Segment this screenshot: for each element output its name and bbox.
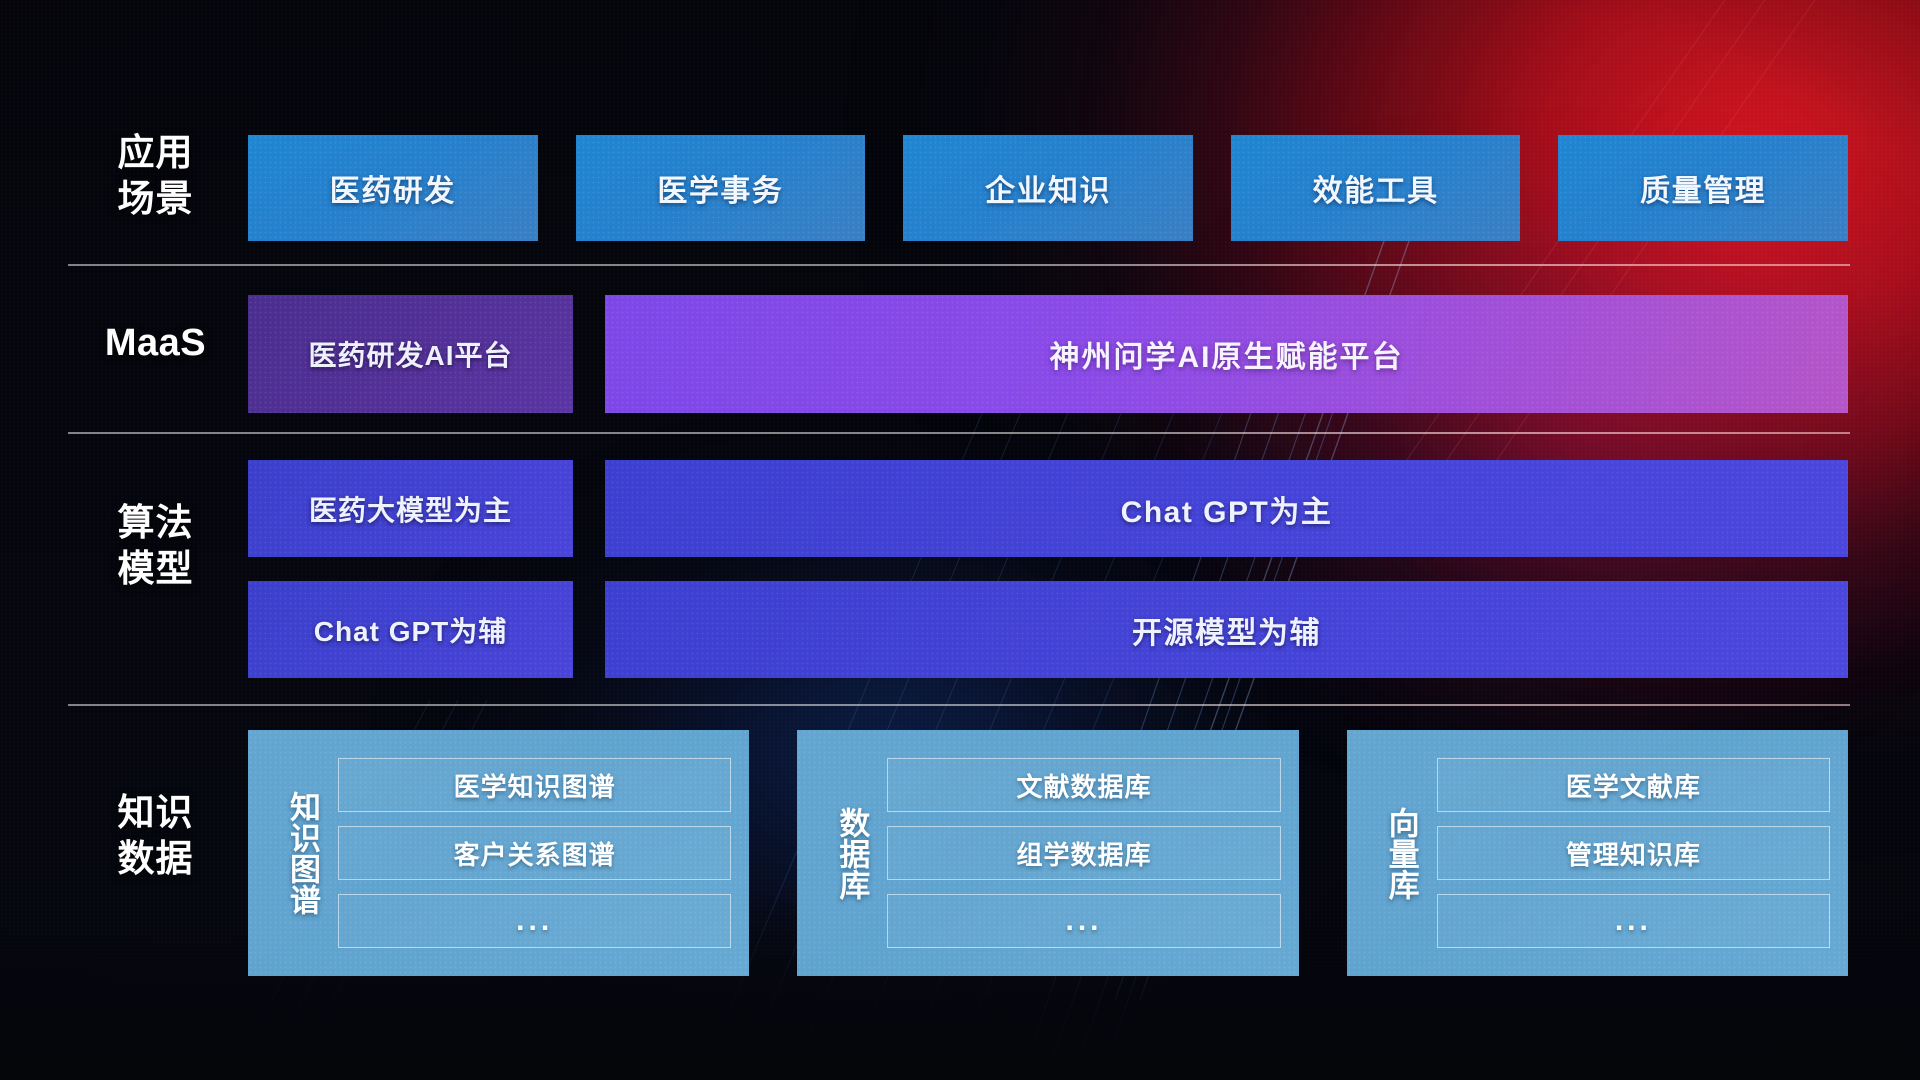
application-card-label: 质量管理 <box>1640 166 1766 210</box>
row-label-application: 应用 场景 <box>68 130 243 222</box>
knowledge-item-medical-graph[interactable]: 医学知识图谱 <box>338 758 731 812</box>
application-card-drug-rd[interactable]: 医药研发 <box>248 135 538 241</box>
maas-card-shenzhou-platform[interactable]: 神州问学AI原生赋能平台 <box>605 295 1848 413</box>
knowledge-panel-title: 数据库 <box>819 807 869 900</box>
row-label-knowledge: 知识 数据 <box>68 790 243 882</box>
row-label-application-line2: 场景 <box>68 176 243 222</box>
algorithm-card-label: Chat GPT为辅 <box>314 610 508 650</box>
knowledge-item-omics-db[interactable]: 组学数据库 <box>887 826 1280 880</box>
knowledge-panel-items: 医学知识图谱 客户关系图谱 ... <box>338 758 731 948</box>
row-label-algorithm: 算法 模型 <box>68 500 243 592</box>
algorithm-line-secondary: Chat GPT为辅 开源模型为辅 <box>248 581 1848 678</box>
knowledge-panel-items: 医学文献库 管理知识库 ... <box>1437 758 1830 948</box>
row-label-knowledge-line2: 数据 <box>68 836 243 882</box>
algorithm-card-chatgpt-secondary[interactable]: Chat GPT为辅 <box>248 581 573 678</box>
maas-card-drug-rd-platform[interactable]: 医药研发AI平台 <box>248 295 573 413</box>
knowledge-item-more[interactable]: ... <box>887 894 1280 948</box>
row-label-algorithm-line1: 算法 <box>68 500 243 546</box>
application-card-medical-affairs[interactable]: 医学事务 <box>576 135 866 241</box>
row-label-maas: MaaS <box>68 320 243 366</box>
slide-canvas: 应用 场景 医药研发 医学事务 企业知识 效能工具 质量管理 MaaS <box>0 0 1920 1080</box>
knowledge-item-more[interactable]: ... <box>338 894 731 948</box>
row-label-knowledge-line1: 知识 <box>68 790 243 836</box>
maas-card-label: 医药研发AI平台 <box>308 334 512 374</box>
algorithm-line-primary: 医药大模型为主 Chat GPT为主 <box>248 460 1848 557</box>
knowledge-panel-items: 文献数据库 组学数据库 ... <box>887 758 1280 948</box>
divider-maas-algorithm <box>68 432 1850 434</box>
application-card-label: 医药研发 <box>330 166 456 210</box>
algorithm-card-pharma-llm-primary[interactable]: 医药大模型为主 <box>248 460 573 557</box>
algorithm-card-chatgpt-primary[interactable]: Chat GPT为主 <box>605 460 1848 557</box>
application-card-row: 医药研发 医学事务 企业知识 效能工具 质量管理 <box>248 135 1848 241</box>
algorithm-card-label: 医药大模型为主 <box>309 489 512 529</box>
application-card-label: 医学事务 <box>657 166 783 210</box>
knowledge-item-customer-graph[interactable]: 客户关系图谱 <box>338 826 731 880</box>
knowledge-panel-title: 知识图谱 <box>270 791 320 915</box>
algorithm-card-row: 医药大模型为主 Chat GPT为主 Chat GPT为辅 开源模型为辅 <box>248 460 1848 678</box>
algorithm-card-label: Chat GPT为主 <box>1121 487 1333 531</box>
divider-application-maas <box>68 264 1850 266</box>
knowledge-item-management-knowledge[interactable]: 管理知识库 <box>1437 826 1830 880</box>
knowledge-panel-title: 向量库 <box>1369 807 1419 900</box>
application-card-label: 效能工具 <box>1313 166 1439 210</box>
divider-algorithm-knowledge <box>68 704 1850 706</box>
application-card-efficiency-tools[interactable]: 效能工具 <box>1231 135 1521 241</box>
knowledge-panel-database[interactable]: 数据库 文献数据库 组学数据库 ... <box>797 730 1298 976</box>
algorithm-card-opensource-secondary[interactable]: 开源模型为辅 <box>605 581 1848 678</box>
knowledge-panel-vector-store[interactable]: 向量库 医学文献库 管理知识库 ... <box>1347 730 1848 976</box>
application-card-quality-management[interactable]: 质量管理 <box>1558 135 1848 241</box>
algorithm-card-label: 开源模型为辅 <box>1132 608 1321 652</box>
knowledge-panel-knowledge-graph[interactable]: 知识图谱 医学知识图谱 客户关系图谱 ... <box>248 730 749 976</box>
maas-card-label: 神州问学AI原生赋能平台 <box>1050 332 1404 376</box>
knowledge-panel-row: 知识图谱 医学知识图谱 客户关系图谱 ... 数据库 文献数据库 组学数据库 .… <box>248 730 1848 976</box>
knowledge-item-more[interactable]: ... <box>1437 894 1830 948</box>
knowledge-item-medical-literature[interactable]: 医学文献库 <box>1437 758 1830 812</box>
maas-card-row: 医药研发AI平台 神州问学AI原生赋能平台 <box>248 295 1848 413</box>
knowledge-item-literature-db[interactable]: 文献数据库 <box>887 758 1280 812</box>
row-label-algorithm-line2: 模型 <box>68 546 243 592</box>
application-card-label: 企业知识 <box>985 166 1111 210</box>
row-label-application-line1: 应用 <box>68 130 243 176</box>
application-card-enterprise-knowledge[interactable]: 企业知识 <box>903 135 1193 241</box>
